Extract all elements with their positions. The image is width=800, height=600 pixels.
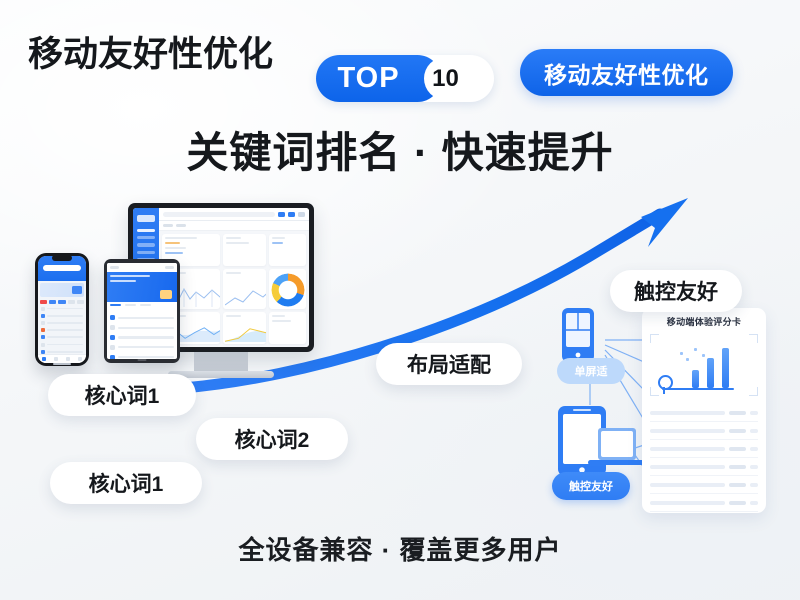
header-tag-label: 移动友好性优化 — [544, 56, 709, 90]
chart-bars — [664, 342, 748, 388]
dashboard-sidebar — [133, 208, 159, 347]
table-row — [650, 494, 758, 512]
dashboard-card — [162, 312, 220, 344]
kicker-title: 移动友好性优化 — [28, 26, 273, 77]
poster-canvas: 单屏适 触控友好 移动端体验评分卡 — [0, 0, 800, 600]
donut-chart-card — [269, 269, 306, 309]
dashboard-topbar — [159, 208, 309, 221]
score-card-chart — [650, 334, 758, 396]
feature-pill-layout[interactable]: 布局适配 — [376, 343, 522, 385]
diagram-pill-label: 触控友好 — [569, 478, 613, 494]
score-card-table — [650, 404, 758, 512]
desktop-monitor — [128, 203, 314, 352]
score-card-title: 移动端体验评分卡 — [650, 315, 758, 328]
dashboard-card — [269, 312, 306, 344]
phone-device — [35, 253, 89, 366]
dashboard-card — [223, 312, 266, 344]
top-badge-label: TOP — [337, 64, 419, 93]
keyword-pill-label: 核心词1 — [89, 468, 164, 498]
dashboard-card — [223, 234, 266, 266]
dashboard-card — [223, 269, 266, 309]
feature-pill-touch[interactable]: 触控友好 — [610, 270, 742, 312]
keyword-pill-1[interactable]: 核心词1 — [48, 374, 196, 416]
keyword-pill-label: 核心词2 — [235, 424, 310, 454]
feature-pill-label: 触控友好 — [634, 276, 718, 306]
table-row — [650, 422, 758, 440]
header-tag-pill[interactable]: 移动友好性优化 — [520, 49, 733, 96]
donut-chart — [271, 273, 304, 306]
monitor-screen — [128, 203, 314, 352]
diagram-phone-small — [562, 308, 594, 362]
table-row — [650, 476, 758, 494]
phone-app-header — [38, 256, 86, 281]
feature-pill-label: 布局适配 — [407, 349, 491, 379]
diagram-pill-label: 单屏适 — [575, 363, 608, 379]
phone-search-field — [43, 265, 81, 271]
table-row — [650, 404, 758, 422]
keyword-pill-2[interactable]: 核心词2 — [196, 418, 348, 460]
chart-bar — [692, 370, 699, 388]
chart-bar — [707, 358, 714, 388]
dashboard-card — [269, 234, 306, 266]
tablet-hero-banner — [107, 272, 177, 302]
dashboard-card — [162, 234, 220, 266]
top-badge-number-circle: 10 — [425, 58, 466, 99]
chart-bar — [722, 348, 729, 388]
diagram-pill-touch-friendly[interactable]: 触控友好 — [552, 472, 630, 500]
keyword-pill-label: 核心词1 — [85, 380, 160, 410]
phone-notch — [52, 255, 72, 261]
top-badge-number: 10 — [432, 67, 459, 91]
diagram-pill-single-screen[interactable]: 单屏适 — [557, 358, 625, 384]
dashboard-card — [162, 269, 220, 309]
score-card: 移动端体验评分卡 — [642, 308, 766, 513]
page-title: 关键词排名 · 快速提升 — [0, 119, 800, 180]
tablet-device — [104, 259, 180, 363]
responsive-diagram: 单屏适 触控友好 移动端体验评分卡 — [540, 300, 790, 520]
top-rank-badge: TOP 10 — [316, 55, 494, 102]
monitor-stand — [194, 351, 248, 373]
table-row — [650, 440, 758, 458]
phone-home-indicator — [53, 363, 71, 365]
dashboard-search-bar — [163, 212, 275, 217]
footer-tagline: 全设备兼容 · 覆盖更多用户 — [0, 530, 800, 567]
tablet-home-indicator — [138, 359, 147, 361]
top-badge-blue-segment: TOP — [316, 55, 441, 102]
keyword-pill-3[interactable]: 核心词1 — [50, 462, 202, 504]
table-row — [650, 458, 758, 476]
